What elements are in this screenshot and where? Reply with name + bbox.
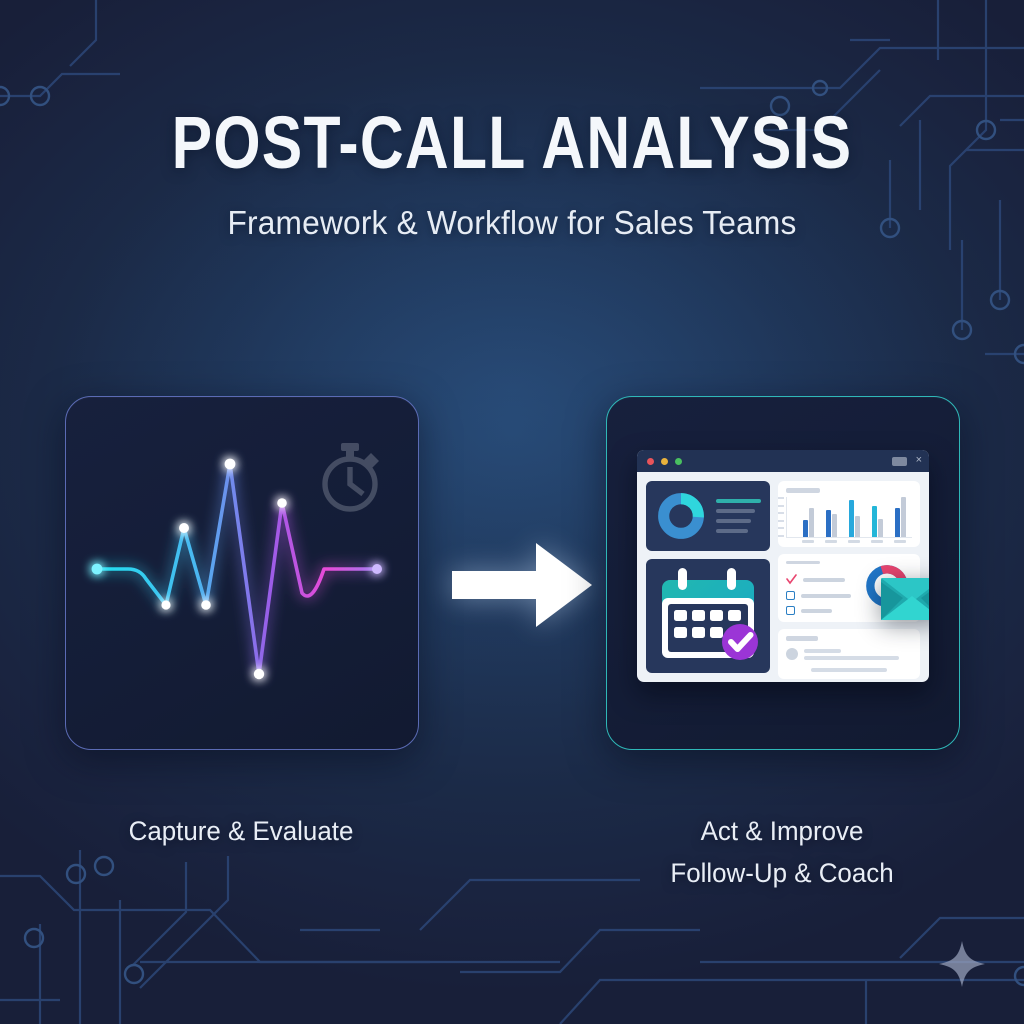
calendar-icon bbox=[654, 564, 762, 668]
page-subtitle: Framework & Workflow for Sales Teams bbox=[20, 204, 1003, 242]
bar-group bbox=[872, 506, 884, 537]
x-axis-labels bbox=[786, 540, 912, 543]
checklist bbox=[786, 561, 856, 615]
legend-line bbox=[716, 509, 755, 513]
window-restore-button[interactable] bbox=[892, 457, 907, 466]
caption-capture: Capture & Evaluate bbox=[72, 810, 410, 852]
legend-line bbox=[716, 529, 748, 533]
window-maximize-dot[interactable] bbox=[675, 458, 682, 465]
bar-group bbox=[895, 497, 907, 537]
avatar bbox=[786, 648, 798, 660]
header: POST-CALL ANALYSIS Framework & Workflow … bbox=[0, 104, 1024, 242]
checklist-item[interactable] bbox=[786, 606, 856, 615]
bar-group bbox=[849, 500, 861, 537]
dashboard-right-column bbox=[778, 481, 920, 673]
list-item[interactable] bbox=[786, 648, 912, 660]
donut-summary-panel[interactable] bbox=[646, 481, 770, 551]
infographic-canvas: POST-CALL ANALYSIS Framework & Workflow … bbox=[0, 0, 1024, 1024]
window-titlebar: × bbox=[637, 450, 929, 472]
donut-legend bbox=[716, 499, 761, 533]
donut-chart bbox=[655, 490, 707, 542]
checkbox-icon[interactable] bbox=[786, 606, 795, 615]
caption-line: Act & Improve bbox=[613, 810, 951, 852]
checkbox-icon[interactable] bbox=[786, 591, 795, 600]
step-card-act[interactable]: × bbox=[606, 396, 960, 750]
close-icon[interactable]: × bbox=[916, 454, 922, 467]
bar-chart-panel[interactable] bbox=[778, 481, 920, 547]
caption-line: Capture & Evaluate bbox=[72, 810, 410, 852]
flow-arrow-icon bbox=[452, 543, 592, 627]
activity-list-panel[interactable] bbox=[778, 629, 920, 679]
calendar-panel[interactable] bbox=[646, 559, 770, 673]
y-axis-ticks bbox=[778, 497, 784, 537]
bar-chart bbox=[786, 497, 912, 538]
bar-group bbox=[826, 510, 838, 537]
legend-line bbox=[716, 519, 751, 523]
checklist-item[interactable] bbox=[786, 591, 856, 600]
bar-group bbox=[803, 508, 815, 537]
page-title: POST-CALL ANALYSIS bbox=[92, 104, 932, 182]
window-close-dot[interactable] bbox=[647, 458, 654, 465]
dashboard-body bbox=[637, 472, 929, 682]
dashboard-window[interactable]: × bbox=[637, 450, 929, 682]
stopwatch-icon bbox=[314, 437, 390, 517]
sparkle-icon bbox=[938, 940, 986, 988]
envelope-icon[interactable] bbox=[881, 578, 929, 620]
list-footer-line bbox=[811, 668, 887, 672]
panel-label bbox=[786, 636, 818, 641]
check-icon bbox=[786, 574, 797, 585]
step-card-capture[interactable] bbox=[65, 396, 419, 750]
caption-act: Act & Improve Follow-Up & Coach bbox=[613, 810, 951, 894]
legend-line-accent bbox=[716, 499, 761, 503]
window-minimize-dot[interactable] bbox=[661, 458, 668, 465]
checklist-item[interactable] bbox=[786, 574, 856, 585]
panel-label bbox=[786, 488, 820, 493]
caption-line: Follow-Up & Coach bbox=[613, 852, 951, 894]
dashboard-left-column bbox=[646, 481, 770, 673]
panel-label bbox=[786, 561, 820, 564]
